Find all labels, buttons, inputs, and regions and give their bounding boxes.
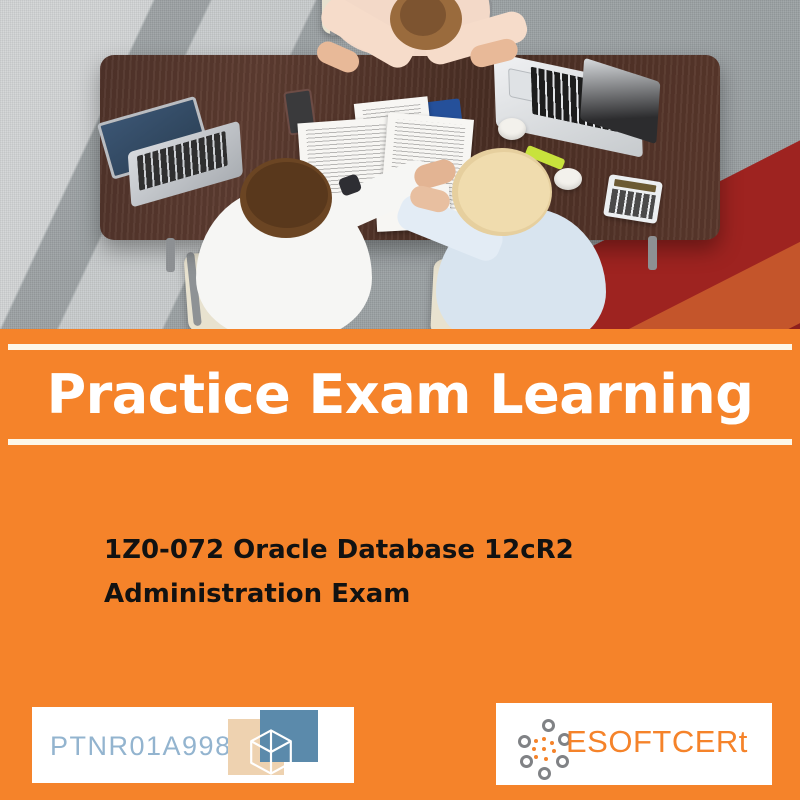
table-leg-left: [166, 238, 175, 272]
dot-1: [534, 739, 538, 743]
banner-rule-top: [8, 344, 792, 350]
dot-8: [544, 757, 548, 761]
partner-logo-card: PTNR01A998WXY: [32, 707, 354, 783]
person-bottom-right-hair: [458, 152, 550, 232]
calculator: [603, 174, 663, 224]
coffee-cup-upper: [498, 118, 526, 140]
dot-7: [534, 755, 538, 759]
banner-title: Practice Exam Learning: [0, 362, 800, 428]
cube-icon: [244, 725, 298, 779]
ring-1: [518, 735, 531, 748]
esoftcert-wordmark: ESOFTCERt: [566, 724, 748, 760]
dot-2: [542, 737, 546, 741]
ring-3: [538, 767, 551, 780]
poster-page: Practice Exam Learning 1Z0-072 Oracle Da…: [0, 0, 800, 800]
ring-2: [520, 755, 533, 768]
coffee-cup-lower: [554, 168, 582, 190]
ring-6: [542, 719, 555, 732]
banner: Practice Exam Learning: [0, 329, 800, 457]
dot-3: [550, 741, 554, 745]
dot-6: [552, 749, 556, 753]
person-bottom-left-hair: [246, 162, 328, 228]
esoftcert-logo-card: ESOFTCERt: [496, 703, 772, 785]
dot-5: [542, 747, 546, 751]
dot-4: [532, 747, 536, 751]
exam-title: 1Z0-072 Oracle Database 12cR2 Administra…: [104, 528, 794, 616]
table-leg-right: [648, 236, 657, 270]
banner-rule-bottom: [8, 439, 792, 445]
calculator-keypad: [609, 189, 656, 220]
hero-photo: [0, 0, 800, 329]
